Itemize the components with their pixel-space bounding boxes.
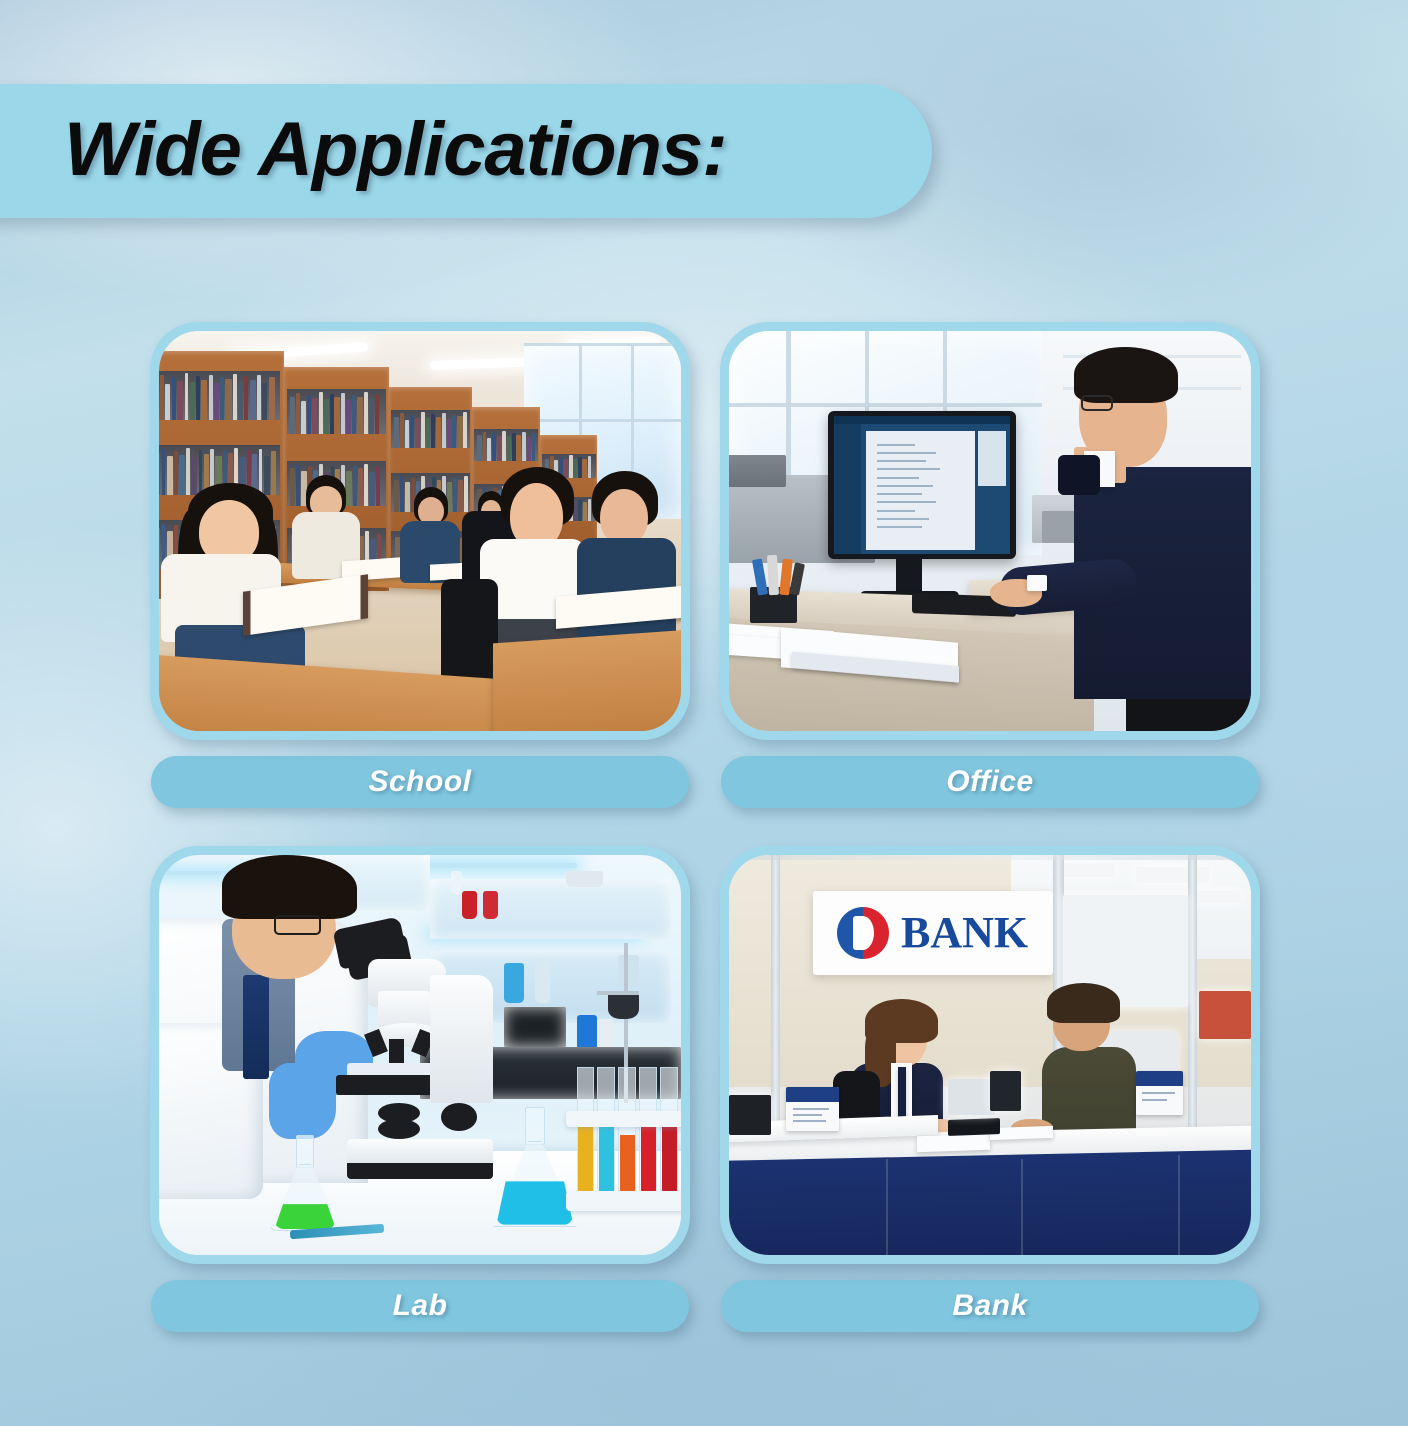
application-card-office: Office <box>720 322 1260 808</box>
photo-frame-office <box>720 322 1260 740</box>
caption-pill-school: School <box>151 756 689 808</box>
caption-label-bank: Bank <box>952 1289 1027 1323</box>
application-card-lab: Lab <box>150 846 690 1332</box>
bank-logo-icon <box>837 907 889 959</box>
title-banner: Wide Applications: <box>0 84 932 218</box>
caption-pill-lab: Lab <box>151 1280 689 1332</box>
photo-frame-school <box>150 322 690 740</box>
caption-pill-office: Office <box>721 756 1259 808</box>
photo-office <box>729 331 1251 731</box>
application-card-school: School <box>150 322 690 808</box>
bank-sign: BANK <box>813 891 1053 975</box>
photo-frame-bank: BANK <box>720 846 1260 1264</box>
photo-bank: BANK <box>729 855 1251 1255</box>
infographic-page: Wide Applications: <box>0 0 1408 1440</box>
application-card-bank: BANK <box>720 846 1260 1332</box>
page-title: Wide Applications: <box>64 106 727 193</box>
caption-label-lab: Lab <box>393 1289 448 1323</box>
caption-label-school: School <box>368 765 471 799</box>
photo-frame-lab <box>150 846 690 1264</box>
caption-label-office: Office <box>946 765 1033 799</box>
photo-lab <box>159 855 681 1255</box>
photo-school <box>159 331 681 731</box>
applications-grid: School <box>150 322 1260 1322</box>
bank-sign-word: BANK <box>901 911 1028 955</box>
bottom-white-strip <box>0 1426 1408 1440</box>
caption-pill-bank: Bank <box>721 1280 1259 1332</box>
